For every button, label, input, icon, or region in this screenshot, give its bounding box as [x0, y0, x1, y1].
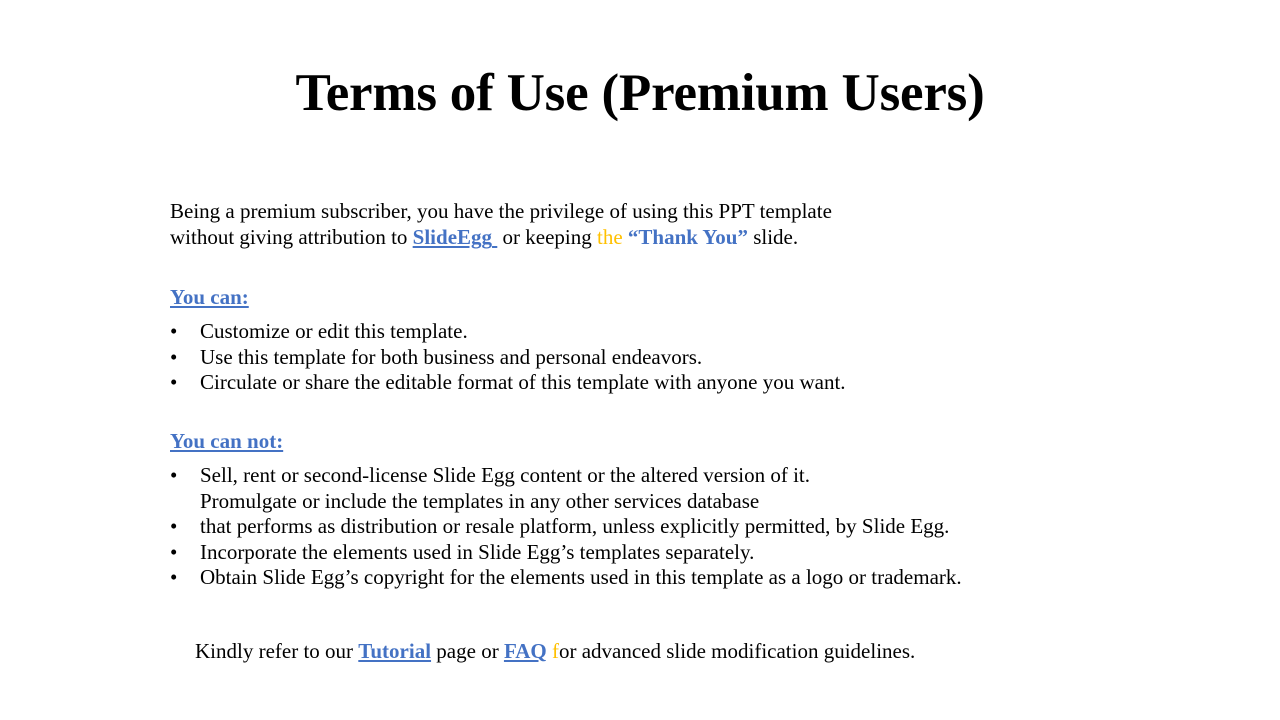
intro-line-2-suffix: slide.: [748, 225, 798, 249]
bullet-icon: •: [170, 370, 184, 396]
list-item: •Circulate or share the editable format …: [170, 370, 846, 396]
list-item: •Incorporate the elements used in Slide …: [170, 540, 962, 566]
slideegg-link[interactable]: SlideEgg: [413, 225, 492, 249]
you-can-not-list: •Sell, rent or second-license Slide Egg …: [170, 463, 962, 591]
bullet-icon: •: [170, 540, 184, 566]
footer-middle: page or: [431, 639, 504, 663]
you-can-list: •Customize or edit this template. •Use t…: [170, 319, 846, 396]
intro-line-2: without giving attribution to SlideEgg o…: [170, 225, 1170, 251]
slide-canvas: Terms of Use (Premium Users) Being a pre…: [0, 0, 1280, 720]
intro-paragraph: Being a premium subscriber, you have the…: [170, 199, 1170, 250]
footer-suffix: or advanced slide modification guideline…: [559, 639, 915, 663]
tutorial-link[interactable]: Tutorial: [358, 639, 431, 663]
page-title: Terms of Use (Premium Users): [0, 64, 1280, 123]
intro-line-2-middle: or keeping: [497, 225, 597, 249]
list-item-continuation: Promulgate or include the templates in a…: [170, 489, 962, 515]
list-item-label: Incorporate the elements used in Slide E…: [200, 540, 754, 564]
faq-link[interactable]: FAQ: [504, 639, 547, 663]
section-heading-you-can: You can:: [170, 285, 249, 310]
intro-line-1-text: Being a premium subscriber, you have the…: [170, 199, 832, 223]
list-item-label: Customize or edit this template.: [200, 319, 468, 343]
list-item-label: Sell, rent or second-license Slide Egg c…: [200, 463, 810, 487]
list-item: •that performs as distribution or resale…: [170, 514, 962, 540]
body-content: Being a premium subscriber, you have the…: [170, 199, 1170, 250]
list-item-label: Promulgate or include the templates in a…: [200, 489, 759, 513]
intro-line-2-prefix: without giving attribution to: [170, 225, 413, 249]
list-item-label: Use this template for both business and …: [200, 345, 702, 369]
list-item-label: Obtain Slide Egg’s copyright for the ele…: [200, 565, 962, 589]
bullet-icon: •: [170, 345, 184, 371]
intro-line-1: Being a premium subscriber, you have the…: [170, 199, 1170, 225]
list-item: •Obtain Slide Egg’s copyright for the el…: [170, 565, 962, 591]
footer-note: Kindly refer to our Tutorial page or FAQ…: [195, 638, 915, 664]
footer-prefix: Kindly refer to our: [195, 639, 358, 663]
thank-you-quote: “Thank You”: [628, 225, 748, 249]
list-item-label: that performs as distribution or resale …: [200, 514, 949, 538]
list-item: •Sell, rent or second-license Slide Egg …: [170, 463, 962, 489]
footer-gold-f: f: [547, 639, 559, 663]
section-heading-you-can-not: You can not:: [170, 429, 283, 454]
list-item-label: Circulate or share the editable format o…: [200, 370, 846, 394]
bullet-icon: •: [170, 565, 184, 591]
bullet-icon: •: [170, 319, 184, 345]
bullet-icon: •: [170, 514, 184, 540]
intro-gold-the: the: [597, 225, 623, 249]
list-item: •Customize or edit this template.: [170, 319, 846, 345]
list-item: •Use this template for both business and…: [170, 345, 846, 371]
bullet-icon: •: [170, 463, 184, 489]
